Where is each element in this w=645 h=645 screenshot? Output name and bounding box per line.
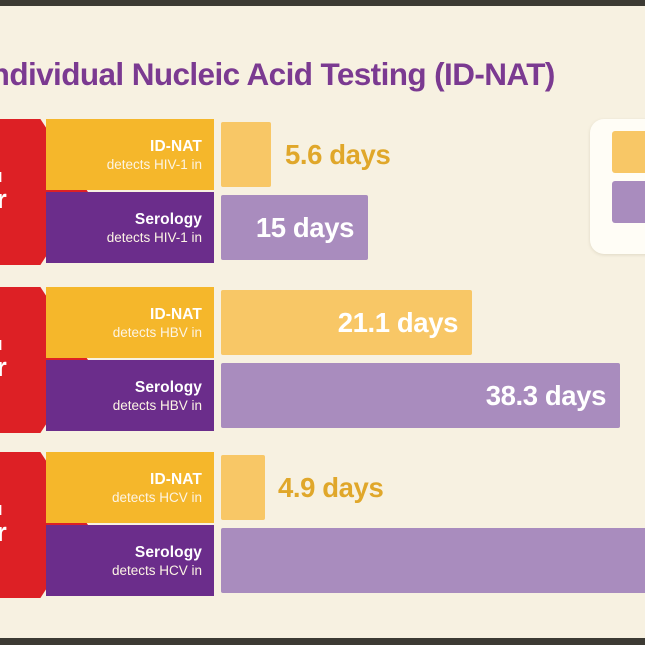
row-tag-serology: Serology detects HCV in xyxy=(46,525,214,596)
chevron-line-1: od xyxy=(0,503,2,518)
row-tag-title: ID-NAT xyxy=(150,138,202,156)
row-tag-subtitle: detects HBV in xyxy=(113,398,202,413)
legend-item-serology: Serology xyxy=(612,181,645,223)
bar-serology-hbv: 38.3 days xyxy=(221,363,620,428)
row-tag-subtitle: detects HCV in xyxy=(112,490,202,505)
row-tag-title: ID-NAT xyxy=(150,306,202,324)
row-tag-idnat: ID-NAT detects HIV-1 in xyxy=(46,119,214,190)
row-tag-title: Serology xyxy=(135,211,202,229)
bar-value-idnat-hcv: 4.9 days xyxy=(278,455,383,520)
chevron-line-2: er xyxy=(0,353,6,381)
chart-legend: ID-NAT Serology xyxy=(590,119,645,254)
bar-serology-hcv xyxy=(221,528,645,593)
legend-item-idnat: ID-NAT xyxy=(612,131,645,173)
bar-value-serology-hbv: 38.3 days xyxy=(486,380,606,412)
chevron-line-1: od xyxy=(0,338,2,353)
row-tag-subtitle: detects HCV in xyxy=(112,563,202,578)
bar-value-idnat-hiv: 5.6 days xyxy=(285,122,390,187)
page-title: d:Individual Nucleic Acid Testing (ID-NA… xyxy=(0,52,645,96)
row-tag-subtitle: detects HIV-1 in xyxy=(107,230,202,245)
bar-idnat-hbv: 21.1 days xyxy=(221,290,472,355)
row-tag-subtitle: detects HBV in xyxy=(113,325,202,340)
legend-swatch-purple-icon xyxy=(612,181,645,223)
row-tag-title: Serology xyxy=(135,379,202,397)
page-title-main: Individual Nucleic Acid Testing (ID-NAT) xyxy=(0,56,555,92)
bar-idnat-hcv xyxy=(221,455,265,520)
row-tag-serology: Serology detects HBV in xyxy=(46,360,214,431)
row-tag-title: Serology xyxy=(135,544,202,562)
bar-serology-hiv: 15 days xyxy=(221,195,368,260)
row-tag-serology: Serology detects HIV-1 in xyxy=(46,192,214,263)
infographic-canvas: d:Individual Nucleic Acid Testing (ID-NA… xyxy=(0,0,645,645)
page-title-text: d:Individual Nucleic Acid Testing (ID-NA… xyxy=(0,52,555,96)
bar-idnat-hiv xyxy=(221,122,271,187)
row-tag-title: ID-NAT xyxy=(150,471,202,489)
bar-value-serology-hiv: 15 days xyxy=(256,212,354,244)
chevron-line-2: er xyxy=(0,518,6,546)
row-tag-subtitle: detects HIV-1 in xyxy=(107,157,202,172)
legend-swatch-orange-icon xyxy=(612,131,645,173)
chevron-line-1: od xyxy=(0,170,2,185)
row-tag-idnat: ID-NAT detects HBV in xyxy=(46,287,214,358)
chevron-line-2: er xyxy=(0,185,6,213)
row-tag-idnat: ID-NAT detects HCV in xyxy=(46,452,214,523)
bar-value-idnat-hbv: 21.1 days xyxy=(338,307,458,339)
